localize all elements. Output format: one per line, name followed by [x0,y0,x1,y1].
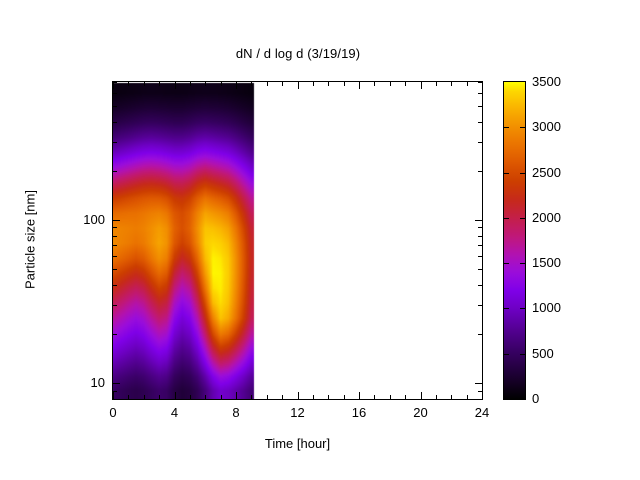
colorbar-tick [520,173,525,174]
colorbar-tick-label: 2000 [532,210,561,225]
colorbar [503,81,526,400]
y-tick-minor [113,82,117,83]
y-tick-minor-right [478,106,482,107]
x-tick-minor-top [405,82,406,86]
x-tick-minor-top [328,82,329,86]
colorbar-tick [504,127,509,128]
x-tick-major [421,392,422,399]
y-tick-major [113,383,120,384]
y-tick-minor-right [478,82,482,83]
colorbar-tick [504,308,509,309]
colorbar-tick [520,127,525,128]
colorbar-tick-label: 1500 [532,255,561,270]
colorbar-gradient [504,82,525,399]
y-tick-major-right [475,383,482,384]
x-tick-minor-top [190,82,191,86]
x-tick-label: 0 [93,405,133,420]
y-tick-major-right [475,220,482,221]
x-tick-minor-top [144,82,145,86]
x-tick-minor-top [251,82,252,86]
colorbar-tick-label: 3000 [532,119,561,134]
x-tick-minor [267,395,268,399]
y-tick-minor-right [478,122,482,123]
y-tick-label: 100 [65,212,105,227]
x-tick-major [359,392,360,399]
y-tick-minor-right [478,285,482,286]
x-tick-minor [205,395,206,399]
colorbar-tick-label: 2500 [532,165,561,180]
x-tick-minor [344,395,345,399]
x-tick-major-top [175,82,176,89]
y-tick-major [113,220,120,221]
x-tick-label: 16 [339,405,379,420]
x-tick-major-top [236,82,237,89]
x-tick-major [236,392,237,399]
x-tick-minor-top [344,82,345,86]
y-tick-minor-right [478,269,482,270]
x-axis-title: Time [hour] [112,436,483,451]
figure-canvas: dN / d log d (3/19/19) 0481216202410100 … [0,0,640,480]
x-tick-major-top [482,82,483,89]
y-tick-minor-right [478,391,482,392]
x-tick-label: 20 [401,405,441,420]
x-tick-minor [374,395,375,399]
y-tick-minor [113,106,117,107]
x-tick-minor [451,395,452,399]
x-tick-label: 4 [155,405,195,420]
colorbar-tick [504,218,509,219]
x-tick-major-top [421,82,422,89]
x-tick-major-top [113,82,114,89]
x-tick-label: 8 [216,405,256,420]
x-tick-minor-top [205,82,206,86]
x-tick-minor-top [313,82,314,86]
x-tick-minor [390,395,391,399]
y-tick-label: 10 [65,375,105,390]
y-tick-minor-right [478,227,482,228]
colorbar-tick [520,354,525,355]
x-tick-minor-top [221,82,222,86]
x-tick-minor [128,395,129,399]
colorbar-tick-label: 1000 [532,300,561,315]
x-tick-minor [190,395,191,399]
y-tick-minor [113,256,117,257]
x-tick-major [482,392,483,399]
x-tick-label: 12 [278,405,318,420]
y-tick-minor [113,305,117,306]
y-tick-minor [113,334,117,335]
x-tick-minor-top [374,82,375,86]
colorbar-tick [504,173,509,174]
y-tick-minor-right [478,93,482,94]
y-tick-minor [113,93,117,94]
chart-title: dN / d log d (3/19/19) [0,46,596,61]
colorbar-tick [504,354,509,355]
x-tick-minor [328,395,329,399]
colorbar-tick [520,263,525,264]
x-tick-minor-top [436,82,437,86]
colorbar-tick-label: 500 [532,346,554,361]
x-tick-minor-top [267,82,268,86]
x-tick-minor [251,395,252,399]
y-tick-minor [113,236,117,237]
x-tick-minor [144,395,145,399]
x-tick-minor [282,395,283,399]
y-tick-minor [113,245,117,246]
x-tick-label: 24 [462,405,502,420]
x-tick-minor-top [128,82,129,86]
y-tick-minor [113,227,117,228]
x-tick-major [175,392,176,399]
colorbar-tick [504,263,509,264]
x-tick-minor-top [390,82,391,86]
colorbar-tick [520,218,525,219]
colorbar-tick-label: 3500 [532,74,561,89]
y-tick-minor-right [478,236,482,237]
x-tick-major-top [359,82,360,89]
x-tick-major-top [298,82,299,89]
x-tick-minor-top [467,82,468,86]
x-tick-minor [405,395,406,399]
y-tick-minor-right [478,256,482,257]
x-tick-minor [436,395,437,399]
y-axis-title: Particle size [nm] [23,140,38,340]
x-tick-minor [221,395,222,399]
x-tick-major [113,392,114,399]
colorbar-tick [520,308,525,309]
y-tick-minor-right [478,334,482,335]
y-tick-minor [113,171,117,172]
y-tick-minor [113,122,117,123]
y-tick-minor-right [478,305,482,306]
x-tick-minor [159,395,160,399]
x-tick-minor-top [282,82,283,86]
x-tick-minor-top [159,82,160,86]
colorbar-tick-label: 0 [532,391,539,406]
y-tick-minor [113,285,117,286]
y-tick-minor-right [478,171,482,172]
y-tick-minor-right [478,142,482,143]
x-tick-major [298,392,299,399]
x-tick-minor [467,395,468,399]
x-tick-minor [313,395,314,399]
x-tick-minor-top [451,82,452,86]
y-tick-minor-right [478,245,482,246]
plot-area [112,81,483,400]
y-tick-minor [113,142,117,143]
y-tick-minor [113,391,117,392]
heatmap-image [113,82,482,399]
y-tick-minor [113,269,117,270]
